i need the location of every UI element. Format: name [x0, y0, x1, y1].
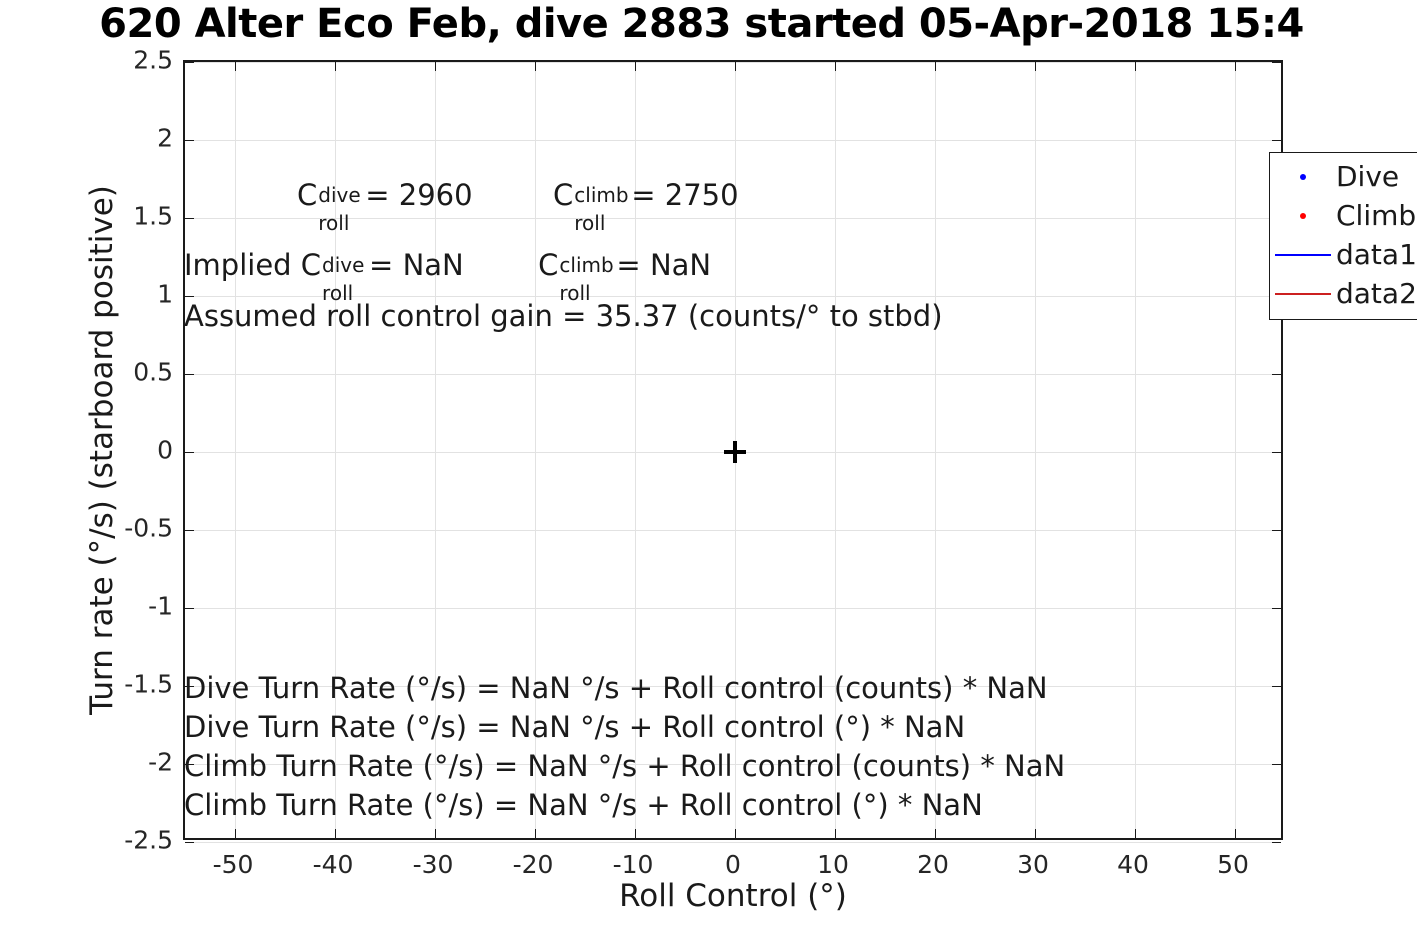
gridline-horizontal: [185, 764, 1281, 765]
y-tick: [1272, 62, 1281, 63]
c-dive-subscript: roll: [322, 283, 353, 303]
c-dive-value: = NaN: [369, 248, 464, 282]
x-tick: [235, 829, 236, 838]
cross-vertical: [733, 441, 737, 463]
x-tick: [235, 62, 236, 71]
implied-prefix: Implied: [184, 248, 292, 282]
gridline-horizontal: [185, 218, 1281, 219]
c-climb-value: = 2750: [631, 178, 738, 212]
legend-item-climb[interactable]: Climb: [1270, 196, 1417, 235]
y-tick: [185, 62, 194, 63]
c-dive-value: = 2960: [365, 178, 472, 212]
gridline-vertical: [1035, 62, 1036, 838]
chart-title: 620 Alter Eco Feb, dive 2883 started 05-…: [0, 0, 1417, 50]
x-tick: [335, 62, 336, 71]
y-tick: [1272, 842, 1281, 843]
x-tick: [1235, 62, 1236, 71]
y-tick: [1272, 530, 1281, 531]
c-dive-subscript: roll: [318, 213, 349, 233]
y-tick: [185, 374, 194, 375]
c-dive-superscript: dive: [318, 185, 360, 205]
c-dive-symbol: C: [301, 251, 321, 280]
legend-key: [1270, 157, 1336, 196]
legend[interactable]: Dive Climb data1 data2: [1269, 152, 1417, 320]
x-tick: [835, 62, 836, 71]
annotation-gain: Assumed roll control gain = 35.37 (count…: [184, 302, 943, 331]
y-tick-label: 0.5: [87, 358, 173, 387]
x-tick-label: -20: [513, 850, 554, 879]
y-tick-label: 0: [87, 436, 173, 465]
x-tick-label: 0: [725, 850, 741, 879]
gridline-horizontal: [185, 296, 1281, 297]
y-tick: [1272, 608, 1281, 609]
tick-marks: [185, 62, 1281, 838]
gridline-vertical: [335, 62, 336, 838]
c-dive-superscript: dive: [322, 255, 364, 275]
dive-dot-icon: [1300, 174, 1306, 180]
x-tick: [735, 62, 736, 71]
x-tick: [635, 829, 636, 838]
gridline-horizontal: [185, 842, 1281, 843]
c-climb-superscript: climb: [559, 255, 613, 275]
gridline-vertical: [735, 62, 736, 838]
legend-item-dive[interactable]: Dive: [1270, 157, 1417, 196]
x-tick-label: -30: [413, 850, 454, 879]
y-tick: [1272, 452, 1281, 453]
gridline-horizontal: [185, 62, 1281, 63]
x-tick: [535, 62, 536, 71]
gridline-horizontal: [185, 608, 1281, 609]
x-tick: [935, 62, 936, 71]
y-tick: [185, 608, 194, 609]
y-tick: [1272, 686, 1281, 687]
x-tick: [1135, 829, 1136, 838]
y-tick: [185, 296, 194, 297]
legend-key: [1270, 274, 1336, 313]
x-tick: [635, 62, 636, 71]
x-tick-label: 20: [917, 850, 949, 879]
annotation-layer: Cdiveroll= 2960 Cclimbroll= 2750 Implied…: [185, 62, 1281, 838]
x-tick: [435, 829, 436, 838]
plot-area: Cdiveroll= 2960 Cclimbroll= 2750 Implied…: [183, 60, 1283, 840]
equation-line-2: Dive Turn Rate (°/s) = NaN °/s + Roll co…: [184, 713, 965, 742]
equation-line-1: Dive Turn Rate (°/s) = NaN °/s + Roll co…: [184, 674, 1048, 703]
x-tick-label: -50: [213, 850, 254, 879]
y-tick-label: -2.5: [87, 826, 173, 855]
x-tick: [1035, 829, 1036, 838]
gridline-horizontal: [185, 530, 1281, 531]
x-tick-label: 10: [817, 850, 849, 879]
y-tick-label: -1: [87, 592, 173, 621]
legend-key: [1270, 196, 1336, 235]
y-tick: [185, 218, 194, 219]
data1-line-icon: [1275, 254, 1331, 256]
y-tick-label: -2: [87, 748, 173, 777]
y-tick: [1272, 374, 1281, 375]
legend-item-data1[interactable]: data1: [1270, 235, 1417, 274]
gridline-horizontal: [185, 686, 1281, 687]
data-layer: [185, 62, 1281, 838]
annotation-line-2: Implied Cdiveroll= NaN Cclimbroll= NaN: [184, 251, 711, 280]
gridline-horizontal: [185, 374, 1281, 375]
gridline-vertical: [835, 62, 836, 838]
c-climb-subscript: roll: [574, 213, 605, 233]
y-tick-label: -0.5: [87, 514, 173, 543]
c-climb-value: = NaN: [616, 248, 711, 282]
x-tick: [335, 829, 336, 838]
legend-label: Dive: [1336, 163, 1399, 191]
y-tick: [185, 452, 194, 453]
y-tick: [1272, 140, 1281, 141]
y-tick: [185, 842, 194, 843]
gridline-vertical: [935, 62, 936, 838]
y-tick-label: -1.5: [87, 670, 173, 699]
x-tick: [535, 829, 536, 838]
x-tick: [435, 62, 436, 71]
y-tick-label: 2: [87, 124, 173, 153]
c-climb-superscript: climb: [574, 185, 628, 205]
x-tick: [835, 829, 836, 838]
y-tick-label: 1: [87, 280, 173, 309]
legend-label: Climb: [1336, 202, 1416, 230]
x-tick-label: 40: [1117, 850, 1149, 879]
gridline-horizontal: [185, 140, 1281, 141]
legend-label: data1: [1336, 241, 1417, 269]
data2-line-icon: [1275, 293, 1331, 295]
y-tick: [1272, 764, 1281, 765]
x-tick: [935, 829, 936, 838]
chart-title-text: 620 Alter Eco Feb, dive 2883 started 05-…: [99, 0, 1304, 48]
legend-item-data2[interactable]: data2: [1270, 274, 1417, 313]
c-climb-symbol: C: [538, 251, 558, 280]
equation-line-4: Climb Turn Rate (°/s) = NaN °/s + Roll c…: [184, 791, 983, 820]
c-dive-symbol: C: [297, 181, 317, 210]
gridline-vertical: [535, 62, 536, 838]
cross-horizontal: [724, 450, 746, 454]
origin-cross-marker: [724, 441, 746, 463]
y-tick: [185, 686, 194, 687]
climb-dot-icon: [1300, 213, 1306, 219]
gridline-vertical: [435, 62, 436, 838]
gridline-vertical: [1235, 62, 1236, 838]
y-tick-label: 1.5: [87, 202, 173, 231]
x-axis-title: Roll Control (°): [183, 878, 1283, 914]
y-tick: [185, 764, 194, 765]
annotation-line-1: Cdiveroll= 2960 Cclimbroll= 2750: [297, 181, 739, 210]
y-tick: [185, 140, 194, 141]
c-climb-subscript: roll: [559, 283, 590, 303]
gridline-vertical: [235, 62, 236, 838]
equation-line-3: Climb Turn Rate (°/s) = NaN °/s + Roll c…: [184, 752, 1065, 781]
gridlines: [185, 62, 1281, 838]
x-tick-label: 30: [1017, 850, 1049, 879]
gridline-vertical: [635, 62, 636, 838]
legend-label: data2: [1336, 280, 1417, 308]
y-tick: [185, 530, 194, 531]
x-tick: [1035, 62, 1036, 71]
c-climb-symbol: C: [553, 181, 573, 210]
x-tick-label: -40: [313, 850, 354, 879]
y-tick-label: 2.5: [87, 46, 173, 75]
gridline-vertical: [1135, 62, 1136, 838]
gridline-horizontal: [185, 452, 1281, 453]
x-tick: [1135, 62, 1136, 71]
x-tick: [1235, 829, 1236, 838]
legend-key: [1270, 235, 1336, 274]
x-tick-label: 50: [1217, 850, 1249, 879]
x-tick-label: -10: [613, 850, 654, 879]
x-tick: [735, 829, 736, 838]
